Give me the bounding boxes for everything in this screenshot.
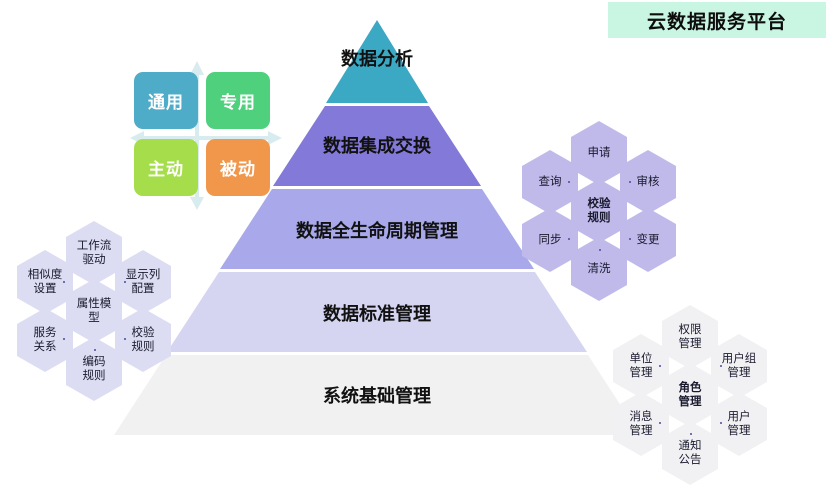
connector-dot xyxy=(568,181,570,183)
connector-dot xyxy=(94,349,96,351)
connector-dot xyxy=(63,281,65,283)
connector-dot xyxy=(659,422,661,424)
hex-line: 规则 xyxy=(83,369,106,383)
hex-line: 用户 xyxy=(728,410,751,424)
hex-line: 工作流 xyxy=(77,239,112,253)
connector-dot xyxy=(720,365,722,367)
connector-dot xyxy=(599,249,601,251)
hex-line: 管理 xyxy=(630,366,653,380)
matrix-cell-dedicated-label: 专用 xyxy=(220,88,256,113)
hex-line: 查询 xyxy=(539,175,562,189)
connector-dot xyxy=(629,181,631,183)
hex-line: 消息 xyxy=(630,410,653,424)
hex-line: 审核 xyxy=(637,175,660,189)
classification-matrix: 通用 专用 主动 被动 xyxy=(128,58,284,210)
hex-line: 角色 xyxy=(679,381,702,395)
hex-line: 同步 xyxy=(539,233,562,247)
connector-dot xyxy=(124,281,126,283)
connector-dot xyxy=(690,433,692,435)
hex-line: 管理 xyxy=(630,424,653,438)
hex-line: 清洗 xyxy=(588,262,611,276)
pyramid-layer-1-shape[interactable] xyxy=(326,20,428,103)
hex-line: 设置 xyxy=(34,282,57,296)
hex-line: 公告 xyxy=(679,453,702,467)
hex-line: 显示列 xyxy=(126,268,161,282)
matrix-cell-general[interactable]: 通用 xyxy=(134,72,198,129)
hex-line: 变更 xyxy=(637,233,660,247)
hex-line: 管理 xyxy=(728,424,751,438)
pyramid-diagram xyxy=(0,0,834,493)
hex-line: 配置 xyxy=(132,282,155,296)
hex-line: 用户组 xyxy=(722,352,757,366)
connector-dot xyxy=(124,338,126,340)
pyramid-layer-5-shape[interactable] xyxy=(114,355,640,435)
hex-line: 型 xyxy=(88,311,100,325)
hex-line: 通知 xyxy=(679,439,702,453)
hex-line: 相似度 xyxy=(28,268,63,282)
hex-line: 驱动 xyxy=(83,253,106,267)
pyramid-layer-4-shape[interactable] xyxy=(167,272,587,352)
hex-line: 单位 xyxy=(630,352,653,366)
connector-dot xyxy=(63,338,65,340)
hex-line: 管理 xyxy=(679,395,702,409)
hex-line: 编码 xyxy=(83,355,106,369)
connector-dot xyxy=(568,238,570,240)
hex-line: 申请 xyxy=(588,146,611,160)
hex-line: 校验 xyxy=(588,197,611,211)
hex-line: 校验 xyxy=(132,326,155,340)
pyramid-layer-2-shape[interactable] xyxy=(273,106,481,186)
hex-line: 关系 xyxy=(34,340,57,354)
matrix-cell-passive-label: 被动 xyxy=(220,155,256,180)
hex-line: 规则 xyxy=(588,211,611,225)
matrix-cell-active[interactable]: 主动 xyxy=(134,139,198,196)
diagram-canvas: 数据分析 数据集成交换 数据全生命周期管理 数据标准管理 系统基础管理 云数据服… xyxy=(0,0,834,493)
hex-line: 规则 xyxy=(132,340,155,354)
page-title-banner: 云数据服务平台 xyxy=(608,2,826,38)
connector-dot xyxy=(659,365,661,367)
hex-line: 管理 xyxy=(679,337,702,351)
hex-line: 服务 xyxy=(34,326,57,340)
matrix-cell-passive[interactable]: 被动 xyxy=(206,139,270,196)
hex-line: 管理 xyxy=(728,366,751,380)
hex-line: 权限 xyxy=(679,323,702,337)
connector-dot xyxy=(629,238,631,240)
matrix-cell-general-label: 通用 xyxy=(148,88,184,113)
matrix-cell-dedicated[interactable]: 专用 xyxy=(206,72,270,129)
connector-dot xyxy=(720,422,722,424)
hex-line: 属性模 xyxy=(77,297,112,311)
matrix-cell-active-label: 主动 xyxy=(148,155,184,180)
page-title: 云数据服务平台 xyxy=(647,7,787,34)
